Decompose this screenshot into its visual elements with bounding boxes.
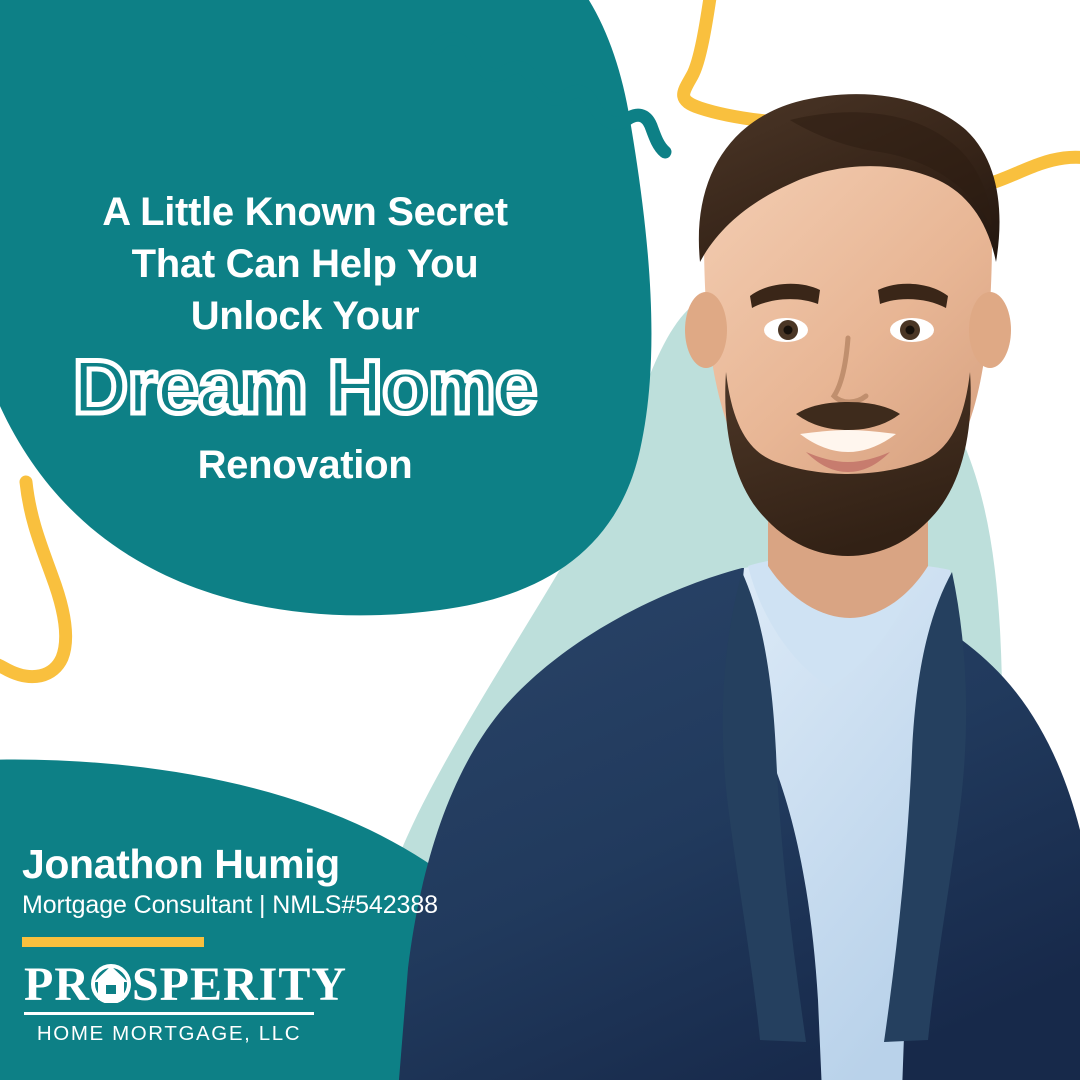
pupil-left	[784, 326, 793, 335]
pupil-right	[906, 326, 915, 335]
logo-rule	[24, 1012, 314, 1015]
agent-branding-group: Jonathon Humig Mortgage Consultant | NML…	[22, 842, 492, 947]
logo-wordmark: PR SPERITY	[24, 960, 334, 1006]
house-roof-icon	[91, 963, 131, 1003]
company-logo: PR SPERITY HOME MORTGAGE, LLC	[24, 960, 334, 1046]
logo-word-part-2: SPERITY	[132, 961, 347, 1009]
agent-name: Jonathon Humig	[22, 842, 492, 886]
divider-bar	[22, 937, 204, 947]
social-graphic-canvas: A Little Known Secret That Can Help You …	[0, 0, 1080, 1080]
ear-right	[969, 292, 1011, 368]
logo-subtext: HOME MORTGAGE, LLC	[24, 1022, 314, 1046]
agent-title: Mortgage Consultant | NMLS#542388	[22, 891, 492, 920]
portrait-figure	[398, 94, 1080, 1080]
ear-left	[685, 292, 727, 368]
logo-word-part-1: PR	[24, 961, 90, 1009]
